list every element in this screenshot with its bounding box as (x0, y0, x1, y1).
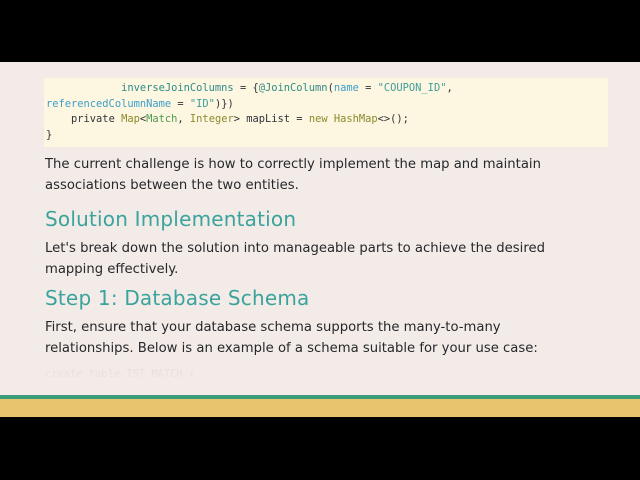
paragraph-solution-intro: Let's break down the solution into manag… (45, 238, 557, 280)
code-token-close-brace: } (46, 129, 52, 141)
code-token-modifier-private: private (71, 113, 121, 125)
code-token-equals-2: = (359, 82, 378, 94)
footer-bar: slide 4 of 9 (0, 399, 640, 417)
code-token-string-id: "ID" (190, 98, 215, 110)
code-token-generic-match: Match (146, 113, 177, 125)
code-token-keyword-new: new (309, 113, 334, 125)
code-token-ctor-hashmap: HashMap (334, 113, 378, 125)
paragraph-current-challenge: The current challenge is how to correctl… (45, 154, 557, 196)
code-token-attr-referenced: referencedColumnName (46, 98, 171, 110)
heading-step-1-database-schema: Step 1: Database Schema (45, 286, 585, 310)
code-line-4: } (44, 128, 608, 144)
code-token-equals-4: = (290, 113, 309, 125)
code-indent (46, 82, 121, 94)
code-token-string-coupon-id: "COUPON_ID" (378, 82, 447, 94)
code-line-2: referencedColumnName = "ID")}) (44, 97, 608, 113)
code-token-comma: , (446, 82, 452, 94)
code-token-attr-name: name (334, 82, 359, 94)
code-line-1: inverseJoinColumns = {@JoinColumn(name =… (44, 81, 608, 97)
code-token-generic-integer: Integer (190, 113, 234, 125)
paragraph-step-1-body: First, ensure that your database schema … (45, 317, 557, 359)
code-indent-2 (46, 113, 71, 125)
code-token-close-parens: )}) (215, 98, 234, 110)
code-token-ctor-tail: <>(); (378, 113, 409, 125)
code-line-create-table-clipped: create table TST_MATCH ( (45, 367, 585, 383)
screen-viewport: inverseJoinColumns = {@JoinColumn(name =… (0, 0, 640, 480)
code-token-annotation: @JoinColumn (259, 82, 328, 94)
slide-content-area: inverseJoinColumns = {@JoinColumn(name =… (0, 62, 640, 395)
code-token-equals: = (234, 82, 253, 94)
letterbox-top (0, 0, 640, 62)
letterbox-bottom (0, 417, 640, 480)
code-token-equals-3: = (171, 98, 190, 110)
code-token-type-map: Map (121, 113, 140, 125)
code-block-java-entity: inverseJoinColumns = {@JoinColumn(name =… (44, 78, 608, 147)
heading-solution-implementation: Solution Implementation (45, 207, 585, 231)
code-token-generic-sep: , (177, 113, 190, 125)
code-token-var-maplist: mapList (246, 113, 290, 125)
code-token-generic-close: > (234, 113, 247, 125)
code-line-3: private Map<Match, Integer> mapList = ne… (44, 112, 608, 128)
presentation-slide: inverseJoinColumns = {@JoinColumn(name =… (0, 62, 640, 417)
code-token-field-name: inverseJoinColumns (121, 82, 234, 94)
